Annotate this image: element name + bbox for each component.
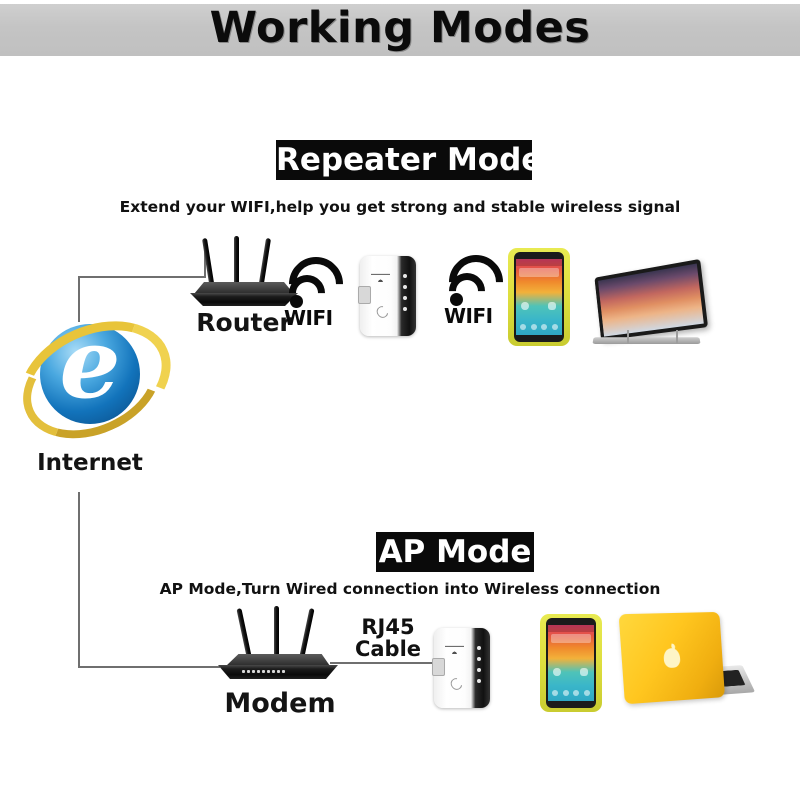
phone-dock-icon <box>573 690 579 696</box>
internet-node <box>14 318 162 440</box>
modem-top-face <box>226 654 330 666</box>
repeater-led <box>477 668 481 672</box>
phone-statusbar <box>516 259 563 266</box>
phone-screen <box>516 259 563 335</box>
phone-widget <box>551 634 590 643</box>
wifi-repeater-icon-1 <box>360 256 416 336</box>
repeater-led <box>403 307 407 311</box>
phone-dock-icon <box>520 324 526 330</box>
phone-dock <box>549 688 592 698</box>
repeater-led-indicators <box>477 646 481 690</box>
tablet-stand-left <box>627 330 629 344</box>
smartphone-icon-1 <box>508 248 570 346</box>
page-title: Working Modes <box>0 0 800 58</box>
repeater-mode-subtitle: Extend your WIFI,help you get strong and… <box>100 198 700 216</box>
phone-widget <box>519 268 558 277</box>
phone-app-icon <box>548 302 555 310</box>
tablet-screen-frame <box>594 259 708 340</box>
repeater-ethernet-port <box>358 286 371 304</box>
modem-antenna-mid <box>274 606 279 662</box>
internet-label: Internet <box>6 450 174 476</box>
connector-rj45-cable <box>330 662 438 664</box>
router-top-face <box>194 282 294 294</box>
rj45-cable-label-line2: Cable <box>334 638 442 660</box>
phone-front <box>546 618 597 708</box>
phone-dock <box>517 322 560 332</box>
smartphone-icon-2 <box>540 614 602 712</box>
tablet-base <box>593 337 702 344</box>
repeater-led <box>403 285 407 289</box>
apple-logo-icon <box>663 648 681 668</box>
repeater-led-indicators <box>403 274 407 318</box>
wifi-signal-icon-1: WIFI <box>288 256 342 326</box>
wifi-label-2: WIFI <box>444 304 493 328</box>
tablet-screen <box>598 263 704 336</box>
repeater-led <box>477 679 481 683</box>
working-modes-diagram: Working Modes Internet Repeater Mode Ext… <box>0 0 800 800</box>
repeater-brand-logo-icon <box>445 641 464 654</box>
modem-label: Modem <box>212 688 348 719</box>
repeater-led <box>403 274 407 278</box>
rj45-cable-label-line1: RJ45 <box>334 616 442 638</box>
repeater-brand-logo-icon <box>371 269 390 282</box>
rj45-cable-label: RJ45 Cable <box>334 616 442 660</box>
phone-app-icon <box>580 668 587 676</box>
phone-dock-icon <box>584 690 590 696</box>
phone-dock-icon <box>541 324 547 330</box>
wifi-label-1: WIFI <box>284 306 333 330</box>
connector-internet-to-modem <box>78 666 220 668</box>
phone-dock-icon <box>531 324 537 330</box>
repeater-led <box>477 657 481 661</box>
phone-dock-icon <box>552 324 558 330</box>
repeater-ethernet-port <box>432 658 445 676</box>
repeater-mode-heading: Repeater Mode <box>276 140 532 180</box>
tablet-icon <box>586 258 708 346</box>
ie-swoosh-front-icon <box>0 299 189 464</box>
modem-led-strip <box>242 670 285 673</box>
modem-led <box>282 670 285 673</box>
modem-antenna-left <box>236 608 252 662</box>
modem-led <box>247 670 250 673</box>
repeater-led <box>477 646 481 650</box>
modem-antenna-right <box>298 608 314 662</box>
phone-front <box>514 252 565 342</box>
router-icon <box>190 238 300 306</box>
modem-led <box>242 670 245 673</box>
wifi-repeater-icon-2 <box>434 628 490 708</box>
connector-internet-down <box>78 492 80 668</box>
phone-dock-icon <box>563 690 569 696</box>
modem-led <box>262 670 265 673</box>
phone-screen <box>548 625 595 701</box>
modem-icon <box>218 608 338 680</box>
tablet-stand-right <box>676 330 678 344</box>
macbook-icon <box>626 612 744 716</box>
phone-app-icon <box>521 302 528 310</box>
ap-mode-subtitle: AP Mode,Turn Wired connection into Wirel… <box>120 580 700 598</box>
phone-dock-icon <box>552 690 558 696</box>
modem-led <box>252 670 255 673</box>
modem-led <box>257 670 260 673</box>
repeater-led <box>403 296 407 300</box>
phone-app-icon <box>553 668 560 676</box>
modem-led <box>272 670 275 673</box>
ap-mode-heading: AP Mode <box>376 532 534 572</box>
connector-internet-to-router <box>78 276 206 278</box>
router-antenna-mid <box>234 236 239 290</box>
modem-led <box>277 670 280 673</box>
macbook-lid <box>619 612 726 705</box>
wifi-signal-icon-2: WIFI <box>448 254 502 324</box>
modem-led <box>267 670 270 673</box>
phone-statusbar <box>548 625 595 632</box>
router-body <box>190 293 298 306</box>
